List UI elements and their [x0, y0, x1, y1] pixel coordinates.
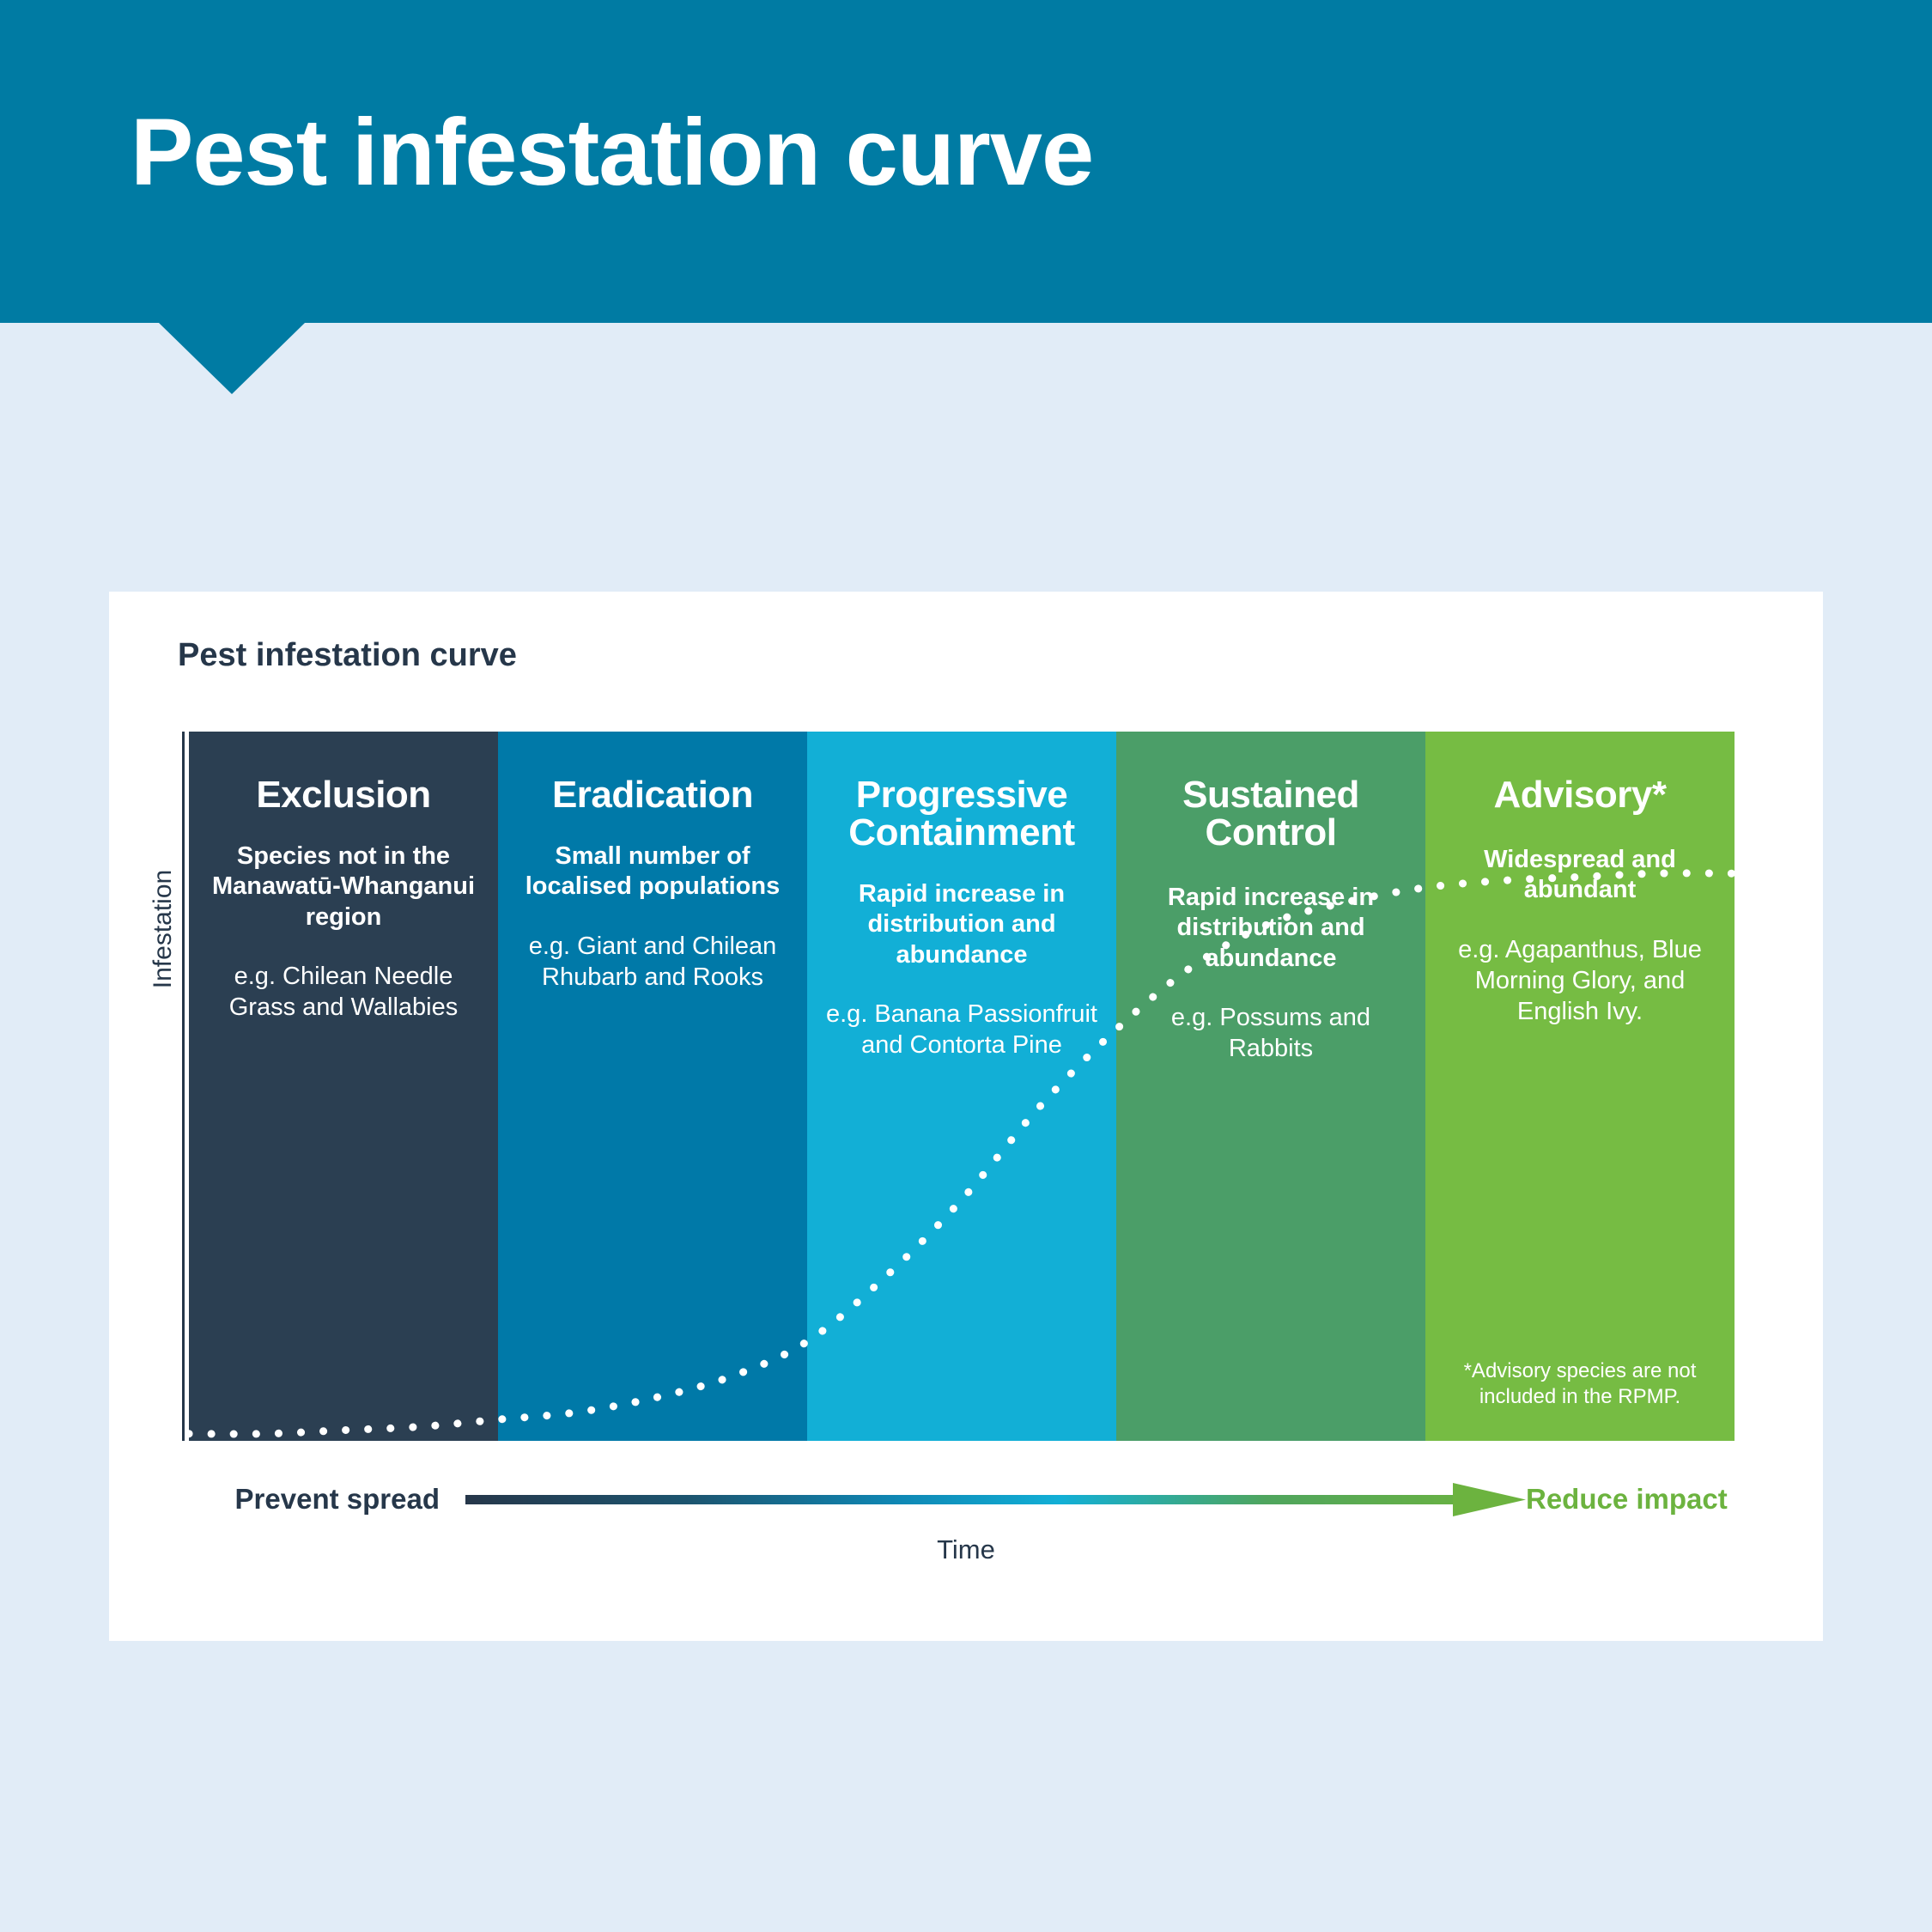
- advisory-footnote: *Advisory species are not included in th…: [1441, 1358, 1719, 1410]
- y-axis-line: [182, 732, 185, 1441]
- reduce-impact-label: Reduce impact: [1526, 1483, 1809, 1516]
- stage-title: Progressive Containment: [819, 776, 1104, 852]
- prevent-spread-label: Prevent spread: [139, 1483, 440, 1516]
- stage-columns: Exclusion Species not in the Manawatū-Wh…: [189, 732, 1735, 1441]
- stage-title: Eradication: [510, 776, 795, 814]
- page-title: Pest infestation curve: [131, 103, 1093, 203]
- direction-axis: Prevent spread Reduce impact: [109, 1476, 1823, 1528]
- stage-description: Rapid increase in distribution and abund…: [1128, 883, 1413, 974]
- stage-title: Exclusion: [201, 776, 486, 814]
- stage-example: e.g. Chilean Needle Grass and Wallabies: [201, 962, 486, 1024]
- x-axis-label: Time: [109, 1534, 1823, 1565]
- stage-column-sustained-control[interactable]: Sustained Control Rapid increase in dist…: [1116, 732, 1425, 1441]
- stage-column-progressive-containment[interactable]: Progressive Containment Rapid increase i…: [807, 732, 1116, 1441]
- stage-description: Rapid increase in distribution and abund…: [819, 879, 1104, 970]
- stage-description: Small number of localised populations: [510, 841, 795, 902]
- plot-area: Exclusion Species not in the Manawatū-Wh…: [189, 732, 1735, 1441]
- stage-column-advisory[interactable]: Advisory* Widespread and abundant e.g. A…: [1425, 732, 1735, 1441]
- direction-arrow-icon: [465, 1476, 1526, 1528]
- stage-example: e.g. Possums and Rabbits: [1128, 1003, 1413, 1065]
- page-header: Pest infestation curve: [0, 0, 1932, 323]
- stage-description: Species not in the Manawatū-Whanganui re…: [201, 841, 486, 933]
- stage-description: Widespread and abundant: [1437, 845, 1722, 906]
- header-notch-triangle: [159, 323, 305, 394]
- stage-example: e.g. Agapanthus, Blue Morning Glory, and…: [1437, 935, 1722, 1028]
- chart-title: Pest infestation curve: [178, 637, 517, 674]
- y-axis-label: Infestation: [149, 843, 178, 1015]
- stage-example: e.g. Giant and Chilean Rhubarb and Rooks: [510, 932, 795, 993]
- infographic-root: Pest infestation curve Pest infestation …: [0, 0, 1932, 1932]
- stage-column-exclusion[interactable]: Exclusion Species not in the Manawatū-Wh…: [189, 732, 498, 1441]
- stage-example: e.g. Banana Passionfruit and Contorta Pi…: [819, 999, 1104, 1061]
- stage-column-eradication[interactable]: Eradication Small number of localised po…: [498, 732, 807, 1441]
- stage-title: Advisory*: [1437, 776, 1722, 814]
- stage-title: Sustained Control: [1128, 776, 1413, 852]
- chart-card: Pest infestation curve Infestation Exclu…: [109, 592, 1823, 1641]
